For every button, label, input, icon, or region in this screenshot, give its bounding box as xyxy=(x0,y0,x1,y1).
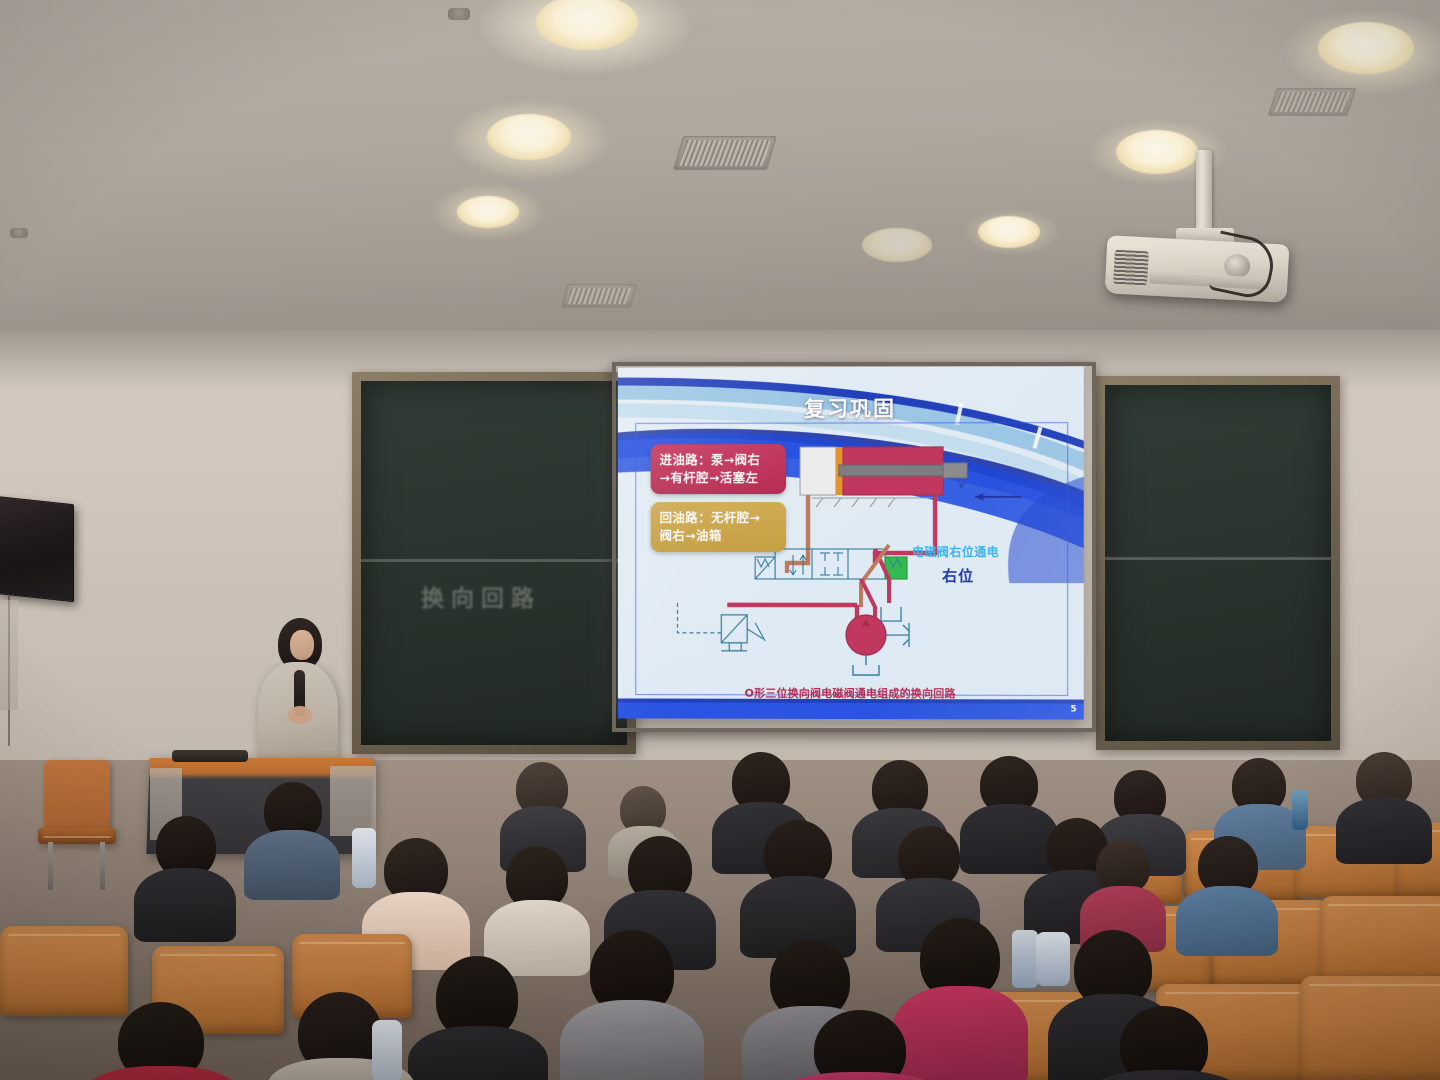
audience-torso xyxy=(1336,798,1432,864)
ceiling-air-vent xyxy=(561,284,637,308)
blackboard-divider xyxy=(361,559,627,562)
velocity-label: v xyxy=(958,477,965,491)
blackboard-right xyxy=(1096,376,1340,750)
chair-back xyxy=(44,760,110,834)
auditorium-seat xyxy=(1300,976,1440,1080)
audience-torso xyxy=(1176,886,1278,956)
inlet-oil-path-line1: 进油路：泵→阀右 xyxy=(660,451,778,469)
projector-mount-pole xyxy=(1196,150,1212,238)
presenter-face xyxy=(290,630,314,660)
solenoid-state-label: 电磁阀右位通电 xyxy=(912,543,999,560)
ceiling-downlight xyxy=(487,114,571,160)
blackboard-chalk-text: 换向回路 xyxy=(421,579,541,613)
audience-person xyxy=(740,820,856,952)
blackboard-divider xyxy=(1105,557,1331,560)
ceiling-downlight xyxy=(862,228,932,262)
fire-sprinkler-icon xyxy=(448,8,470,20)
audience-person xyxy=(408,956,548,1080)
lecture-hall-photo: 换向回路 xyxy=(0,0,1440,1080)
slide-title: 复习巩固 xyxy=(618,392,1084,423)
audience-torso xyxy=(1090,1070,1240,1080)
return-oil-path-line1: 回油路：无杆腔→ xyxy=(660,509,778,527)
podium-equipment xyxy=(172,750,248,762)
audience-person xyxy=(1090,1006,1240,1080)
water-bottle xyxy=(1036,932,1070,986)
chair-leg xyxy=(100,842,105,890)
audience-person xyxy=(134,816,236,934)
audience-torso xyxy=(244,830,340,900)
audience-person xyxy=(560,930,704,1080)
valve-position-label: 右位 xyxy=(942,565,974,586)
audience-torso xyxy=(134,868,236,942)
inlet-oil-path-box: 进油路：泵→阀右 →有杆腔→活塞左 xyxy=(651,444,786,494)
ceiling-downlight xyxy=(457,196,519,228)
water-bottle xyxy=(372,1020,402,1080)
audience-torso xyxy=(780,1072,940,1080)
ceiling-downlight xyxy=(978,216,1040,248)
ceiling-downlight xyxy=(1116,130,1198,174)
wall-monitor xyxy=(0,496,74,602)
ceiling-air-vent xyxy=(673,136,777,170)
presenter-hand xyxy=(288,706,312,724)
presentation-slide: 复习巩固 进油路：泵→阀右 →有杆腔→活塞左 回油路：无杆腔→ 阀右→油箱 电磁… xyxy=(618,366,1084,719)
side-chair xyxy=(38,760,116,878)
audience-torso xyxy=(408,1026,548,1080)
audience-head xyxy=(814,1010,906,1080)
ceiling-downlight xyxy=(1318,22,1414,74)
fire-sprinkler-icon xyxy=(10,228,28,238)
return-oil-path-box: 回油路：无杆腔→ 阀右→油箱 xyxy=(651,502,786,551)
inlet-oil-path-line2: →有杆腔→活塞左 xyxy=(660,469,778,487)
water-bottle xyxy=(1292,790,1308,830)
slide-page-number: 5 xyxy=(1070,705,1076,715)
audience-torso xyxy=(560,1000,704,1080)
blackboard-left: 换向回路 xyxy=(352,372,636,754)
audience-person xyxy=(1176,836,1278,948)
audience-person xyxy=(1336,752,1432,856)
projector-vent-grill xyxy=(1113,250,1149,286)
ceiling-air-vent xyxy=(1267,88,1356,116)
presenter xyxy=(246,618,346,778)
audience-torso xyxy=(86,1066,238,1080)
slide-caption: O形三位换向阀电磁阀通电组成的换向回路 xyxy=(618,685,1084,702)
return-oil-path-line2: 阀右→油箱 xyxy=(660,527,778,545)
audience-person xyxy=(244,782,340,894)
audience-head xyxy=(1120,1006,1208,1080)
chair-leg xyxy=(48,842,53,890)
water-bottle xyxy=(352,828,376,888)
audience-person xyxy=(780,1010,940,1080)
wall-panel xyxy=(0,600,18,710)
audience-person xyxy=(86,1002,238,1080)
auditorium-seat xyxy=(1320,896,1440,984)
projection-screen: 复习巩固 进油路：泵→阀右 →有杆腔→活塞左 回油路：无杆腔→ 阀右→油箱 电磁… xyxy=(618,366,1084,719)
